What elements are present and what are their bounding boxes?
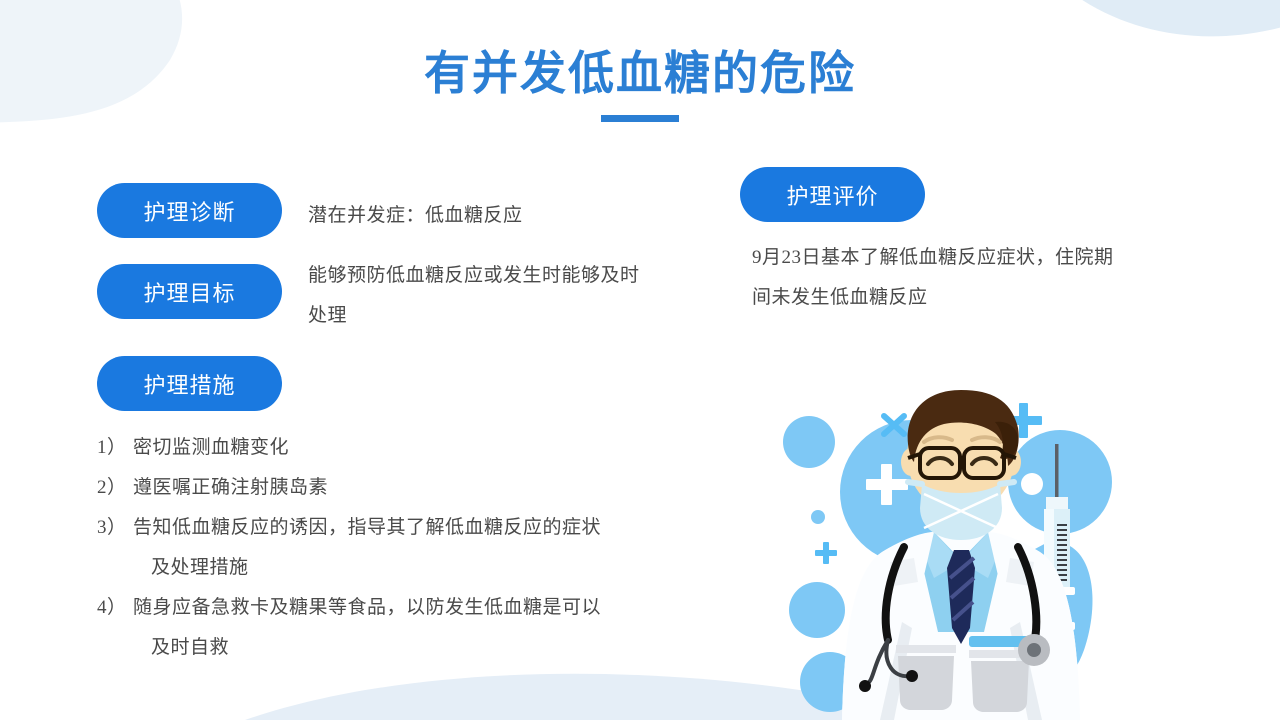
decor-circle-white-accent [1021, 473, 1043, 495]
mask-strap-left [908, 482, 922, 484]
list-item-number: 1） [97, 428, 133, 468]
list-item-number: 4） [97, 588, 133, 628]
list-item-text: 随身应备急救卡及糖果等食品，以防发生低血糖是可以 及时自救 [133, 588, 677, 668]
list-item-text-line2: 及处理措施 [133, 548, 677, 588]
decor-circle-dot-left [811, 510, 825, 524]
title-underline-bar [601, 115, 679, 122]
list-item-text: 密切监测血糖变化 [133, 428, 677, 468]
plus-icon-blue-small-left [815, 542, 837, 564]
stethoscope-chestpiece-center [1027, 643, 1041, 657]
list-item: 3） 告知低血糖反应的诱因，指导其了解低血糖反应的症状 及处理措施 [97, 508, 677, 588]
list-item-number: 2） [97, 468, 133, 508]
text-nursing-goal: 能够预防低血糖反应或发生时能够及时处理 [308, 256, 658, 336]
coat-pocket-trim-left [896, 645, 956, 653]
text-nursing-evaluation: 9月23日基本了解低血糖反应症状，住院期间未发生低血糖反应 [752, 238, 1132, 318]
decor-blob-top-right [1010, 0, 1280, 36]
list-item-text-line1: 告知低血糖反应的诱因，指导其了解低血糖反应的症状 [133, 517, 601, 538]
decor-circle-bottom-left [789, 582, 845, 638]
nursing-measures-list: 1） 密切监测血糖变化 2） 遵医嘱正确注射胰岛素 3） 告知低血糖反应的诱因，… [97, 428, 677, 668]
slide-canvas: 有并发低血糖的危险 护理诊断 潜在并发症：低血糖反应 护理目标 能够预防低血糖反… [0, 0, 1280, 720]
page-title: 有并发低血糖的危险 [0, 48, 1280, 101]
stethoscope-earpiece-right [906, 670, 918, 682]
list-item: 4） 随身应备急救卡及糖果等食品，以防发生低血糖是可以 及时自救 [97, 588, 677, 668]
title-block: 有并发低血糖的危险 [0, 48, 1280, 122]
text-nursing-diagnosis: 潜在并发症：低血糖反应 [308, 196, 708, 236]
pill-nursing-goal[interactable]: 护理目标 [97, 264, 282, 319]
pill-nursing-diagnosis[interactable]: 护理诊断 [97, 183, 282, 238]
doctor-illustration [762, 382, 1162, 720]
stethoscope-earpiece-left [859, 680, 871, 692]
coat-pocket-left [898, 656, 954, 710]
list-item-text: 遵医嘱正确注射胰岛素 [133, 468, 677, 508]
mask-strap-right [1000, 482, 1014, 484]
list-item-text-line2: 及时自救 [133, 628, 677, 668]
list-item: 2） 遵医嘱正确注射胰岛素 [97, 468, 677, 508]
list-item-number: 3） [97, 508, 133, 548]
decor-circle-small-top-left [783, 416, 835, 468]
pill-nursing-measures[interactable]: 护理措施 [97, 356, 282, 411]
list-item: 1） 密切监测血糖变化 [97, 428, 677, 468]
pill-nursing-evaluation[interactable]: 护理评价 [740, 167, 925, 222]
list-item-text-line1: 随身应备急救卡及糖果等食品，以防发生低血糖是可以 [133, 597, 601, 618]
list-item-text: 告知低血糖反应的诱因，指导其了解低血糖反应的症状 及处理措施 [133, 508, 677, 588]
coat-pocket-right [971, 661, 1029, 712]
